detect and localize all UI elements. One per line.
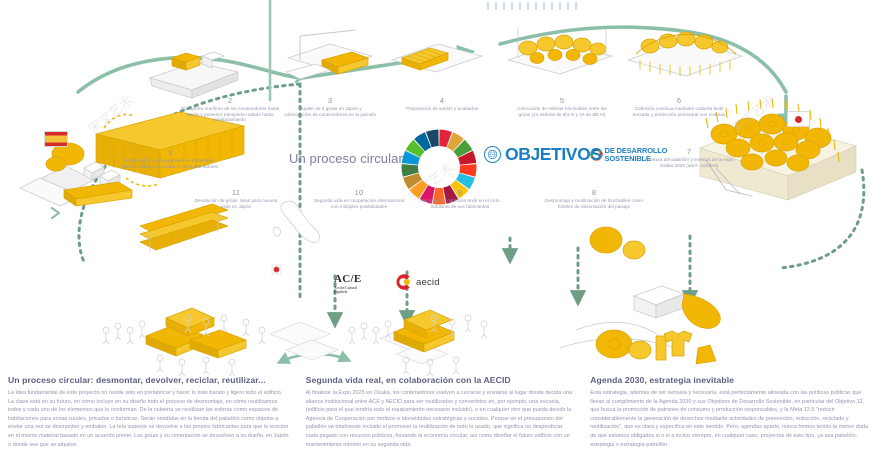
column-segunda-vida: Segunda vida real, en colaboración con l… (298, 375, 582, 449)
step-number: 5 (513, 96, 611, 105)
aecid-mark-icon (392, 271, 414, 293)
step-caption-9: 9 Reciclaje de cubrición textil en el ci… (414, 188, 506, 209)
illustration-school-left (146, 308, 338, 360)
step-number: 10 (313, 188, 405, 197)
sdg-wordmark: OBJETIVOS (505, 146, 602, 164)
step-number: 6 (630, 96, 728, 105)
step-number: 3 (284, 96, 376, 105)
column-agenda-2030: Agenda 2030, estrategia inevitable Esta … (582, 375, 880, 449)
illustration-floor-prep (392, 44, 482, 72)
step-caption-4: 4 Preparación de suelos y acabados (396, 96, 488, 112)
step-number: 9 (414, 188, 506, 197)
step-text: Colocación de esferas hinchables entre l… (513, 106, 611, 117)
spain-flag-icon (44, 131, 68, 147)
step-caption-10: 10 Segunda vida en cooperación internaci… (313, 188, 405, 209)
ace-subtitle-line2: Española (334, 290, 361, 294)
step-text: Cubrición continua mediante cubierta tex… (630, 106, 728, 117)
step-text: Apertura del pabellón y eventos de la ex… (641, 157, 737, 168)
step-text: Fabricación y empaquetado en España de t… (121, 158, 219, 169)
illustration-cranes-returned (140, 204, 228, 252)
article-columns: Un proceso circular: desmontar, devolver… (0, 375, 880, 449)
step-text: Desmontaje y reutilización de hinchables… (544, 198, 644, 209)
aecid-logo: aecid (392, 271, 440, 293)
step-text: Transporte marítimo de los contenedores … (178, 106, 282, 123)
step-caption-3: 3 Alquiler de 3 grúas en Japón y colococ… (284, 96, 376, 117)
step-caption-5: 5 Colocación de esferas hinchables entre… (513, 96, 611, 117)
ace-wordmark: AC/E (334, 273, 361, 285)
column-title: Agenda 2030, estrategia inevitable (590, 375, 872, 385)
step-caption-1: 1 Fabricación y empaquetado en España de… (121, 148, 219, 169)
column-body: Esta estrategia, además de ser sensata y… (590, 389, 872, 449)
illustration-crane-plot (286, 30, 372, 79)
step-number: 11 (194, 188, 278, 197)
step-caption-6: 6 Cubrición continua mediante cubierta t… (630, 96, 728, 117)
illustration-textile-cover (628, 32, 742, 76)
japan-flag-dot (795, 116, 802, 123)
step-number: 7 (641, 147, 737, 156)
column-title: Un proceso circular: desmontar, devolver… (8, 375, 290, 385)
column-title: Segunda vida real, en colaboración con l… (306, 375, 574, 385)
illustration-ship (150, 52, 238, 98)
illustration-school-right (380, 310, 454, 364)
step-text: Devolución de grúas, telas para nuevos u… (194, 198, 278, 209)
ace-logo: AC/E Acción Cultural Española (334, 273, 361, 295)
aecid-wordmark: aecid (416, 277, 440, 288)
step-text: Segunda vida en cooperación internaciona… (313, 198, 405, 209)
japan-flag-icon (787, 111, 810, 127)
step-number: 2 (178, 96, 282, 105)
infographic-canvas: 宋文艺术 宋文艺术 宋文艺术 Un proceso circular... OB… (0, 0, 880, 464)
column-body: La idea fundamental de este proyecto no … (8, 389, 290, 449)
step-caption-7: 7 Apertura del pabellón y eventos de la … (641, 147, 737, 168)
page-title: Un proceso circular... (289, 151, 413, 166)
step-number: 8 (544, 188, 644, 197)
step-caption-2: 2 Transporte marítimo de los contenedore… (178, 96, 282, 123)
step-caption-11: 11 Devolución de grúas, telas para nuevo… (194, 188, 278, 209)
illustration-spheres-cranes (508, 28, 612, 74)
step-text: Alquiler de 3 grúas en Japón y colococac… (284, 106, 376, 117)
step-caption-8: 8 Desmontaje y reutilización de hinchabl… (544, 188, 644, 209)
sdg-logo: OBJETIVOS DE DESARROLLO SOSTENIBLE (484, 146, 667, 164)
un-emblem-icon (484, 146, 501, 163)
step-number: 1 (121, 148, 219, 157)
step-text: Reciclaje de cubrición textil en el cicl… (414, 198, 506, 209)
step-number: 4 (396, 96, 488, 105)
un-globe-icon (486, 148, 499, 161)
step-text: Preparación de suelos y acabados (396, 106, 488, 112)
column-body: Al finalizar la Expo 2025 en Osaka, los … (306, 389, 574, 449)
column-proceso-circular: Un proceso circular: desmontar, devolver… (0, 375, 298, 449)
